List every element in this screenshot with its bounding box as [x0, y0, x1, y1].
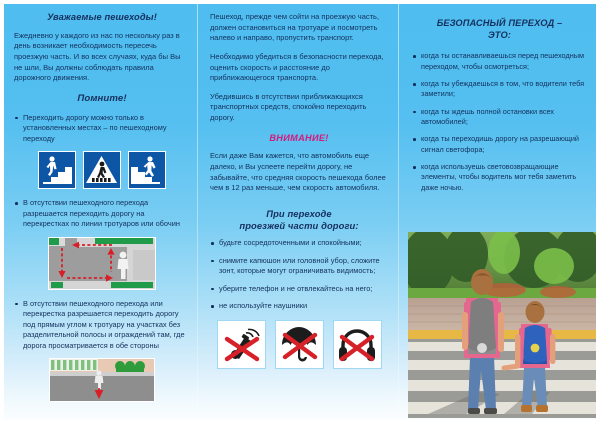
overpass-sign-icon — [128, 151, 166, 189]
list-item: уберите телефон и не отвлекайтесь на нег… — [210, 284, 388, 295]
list-item: снимите капюшон или головной убор, сложи… — [210, 256, 388, 277]
children-crosswalk-photo — [408, 232, 596, 418]
list-item: когда используешь световозвращающие элем… — [412, 162, 587, 193]
right-heading-line2: ЭТО: — [488, 30, 511, 40]
list-item: когда ты убеждаешься в том, что водители… — [412, 79, 587, 100]
crossing-heading: При переходе проезжей части дороги: — [210, 208, 388, 232]
road-signs-row — [14, 151, 190, 189]
no-phone-icon — [217, 320, 266, 369]
intersection-crossing-diagram — [48, 237, 156, 290]
attention-heading: ВНИМАНИЕ! — [210, 133, 388, 145]
attention-text: Если даже Вам кажется, что автомобиль ещ… — [210, 151, 388, 194]
crossing-heading-line2: проезжей части дороги: — [239, 220, 358, 231]
underpass-sign-icon — [38, 151, 76, 189]
crossing-heading-line1: При переходе — [266, 208, 331, 219]
left-bullet-list-2: В отсутствии пешеходного перехода разреш… — [14, 198, 190, 230]
right-heading: БЕЗОПАСНЫЙ ПЕРЕХОД – ЭТО: — [412, 18, 587, 41]
prohibition-icons-row — [210, 320, 388, 369]
column-left: Уважаемые пешеходы! Ежедневно у каждого … — [4, 4, 199, 420]
list-item: В отсутствии пешеходного перехода разреш… — [14, 198, 190, 230]
brochure-page: Уважаемые пешеходы! Ежедневно у каждого … — [4, 4, 596, 420]
list-item: когда ты ждешь полной остановки всех авт… — [412, 107, 587, 128]
perpendicular-crossing-diagram — [49, 358, 155, 402]
middle-paragraph-3: Убедившись в отсутствии приближающихся т… — [210, 92, 388, 124]
left-intro-text: Ежедневно у каждого из нас по нескольку … — [14, 31, 190, 84]
middle-paragraph-2: Необходимо убедиться в безопасности пере… — [210, 52, 388, 84]
list-item: будьте сосредоточенными и спокойными; — [210, 238, 388, 249]
left-subheading-remember: Помните! — [14, 93, 190, 105]
left-bullet-list: Переходить дорогу можно только в установ… — [14, 113, 190, 145]
column-middle: Пешеход, прежде чем сойти на проезжую ча… — [200, 4, 398, 420]
list-item: когда ты переходишь дорогу на разрешающи… — [412, 134, 587, 155]
list-item: не используйте наушники — [210, 301, 388, 312]
middle-paragraph-1: Пешеход, прежде чем сойти на проезжую ча… — [210, 12, 388, 44]
list-item: Переходить дорогу можно только в установ… — [14, 113, 190, 145]
middle-bullet-list: будьте сосредоточенными и спокойными; сн… — [210, 238, 388, 312]
right-bullet-list: когда ты останавливаешься перед пешеходн… — [412, 51, 587, 193]
list-item: когда ты останавливаешься перед пешеходн… — [412, 51, 587, 72]
pedestrian-crossing-sign-icon — [83, 151, 121, 189]
left-bullet-list-3: В отсутствии пешеходного перехода или пе… — [14, 299, 190, 352]
no-headphones-icon — [333, 320, 382, 369]
list-item: В отсутствии пешеходного перехода или пе… — [14, 299, 190, 352]
right-heading-line1: БЕЗОПАСНЫЙ ПЕРЕХОД – — [437, 18, 563, 28]
fold-line-right — [398, 4, 399, 420]
left-heading: Уважаемые пешеходы! — [14, 12, 190, 24]
no-umbrella-icon — [275, 320, 324, 369]
